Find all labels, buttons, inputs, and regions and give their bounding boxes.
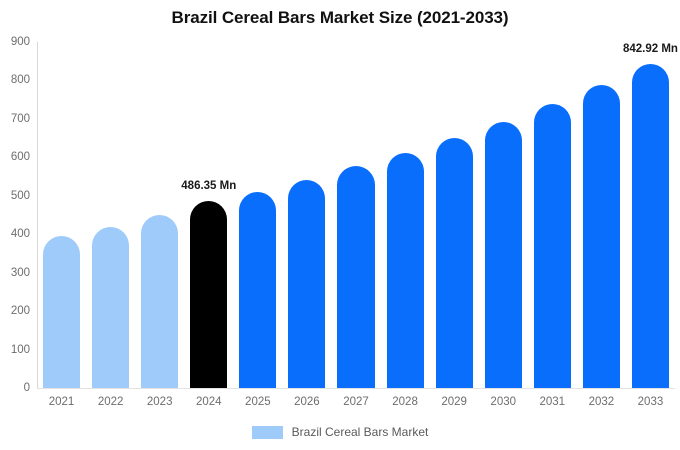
- bar-2030[interactable]: [485, 122, 522, 388]
- bar-2026[interactable]: [288, 180, 325, 388]
- x-axis-tick-2024: 2024: [196, 396, 222, 408]
- y-axis-tick: 500: [0, 190, 30, 202]
- bar-2021[interactable]: [43, 236, 80, 388]
- bar-group[interactable]: [190, 42, 227, 388]
- x-axis-tick-2021: 2021: [49, 396, 75, 408]
- y-axis-tick: 400: [0, 228, 30, 240]
- bar-2029[interactable]: [436, 138, 473, 388]
- bar-value-label-2033: 842.92 Mn: [623, 43, 678, 55]
- y-axis-tick: 100: [0, 344, 30, 356]
- y-axis-tick: 800: [0, 74, 30, 86]
- y-axis-tick: 200: [0, 305, 30, 317]
- bar-2027[interactable]: [337, 166, 374, 388]
- chart-legend: Brazil Cereal Bars Market: [0, 425, 680, 439]
- bar-2025[interactable]: [239, 192, 276, 388]
- x-axis-tick-2029: 2029: [441, 396, 467, 408]
- legend-label: Brazil Cereal Bars Market: [292, 425, 429, 439]
- x-axis-tick-2030: 2030: [490, 396, 516, 408]
- y-axis-tick: 600: [0, 151, 30, 163]
- x-axis-tick-2026: 2026: [294, 396, 320, 408]
- bar-group[interactable]: [534, 42, 571, 388]
- x-axis-tick-2033: 2033: [638, 396, 664, 408]
- x-axis-tick-2025: 2025: [245, 396, 271, 408]
- x-axis-tick-2031: 2031: [540, 396, 566, 408]
- x-axis-tick-2032: 2032: [589, 396, 615, 408]
- bar-group[interactable]: [337, 42, 374, 388]
- bar-2028[interactable]: [387, 153, 424, 388]
- y-axis-tick: 0: [0, 382, 30, 394]
- bar-group[interactable]: [141, 42, 178, 388]
- legend-swatch-icon: [252, 426, 283, 439]
- bar-group[interactable]: [239, 42, 276, 388]
- y-axis-tick: 300: [0, 267, 30, 279]
- x-axis-tick-2028: 2028: [392, 396, 418, 408]
- bar-group[interactable]: [436, 42, 473, 388]
- bar-group[interactable]: [43, 42, 80, 388]
- x-axis-tick-2022: 2022: [98, 396, 124, 408]
- chart-container: Brazil Cereal Bars Market Size (2021-203…: [0, 0, 680, 450]
- bar-2024[interactable]: [190, 201, 227, 388]
- bar-group[interactable]: [92, 42, 129, 388]
- bar-2031[interactable]: [534, 104, 571, 388]
- bar-group[interactable]: [288, 42, 325, 388]
- bar-2033[interactable]: [632, 64, 669, 388]
- bar-group[interactable]: [387, 42, 424, 388]
- bar-group[interactable]: [583, 42, 620, 388]
- bar-group[interactable]: [632, 42, 669, 388]
- bar-2032[interactable]: [583, 85, 620, 388]
- bar-value-label-2024: 486.35 Mn: [181, 180, 236, 192]
- plot-area: [37, 42, 675, 388]
- x-axis-tick-2023: 2023: [147, 396, 173, 408]
- x-axis-tick-2027: 2027: [343, 396, 369, 408]
- bar-2023[interactable]: [141, 215, 178, 388]
- y-axis-tick: 700: [0, 113, 30, 125]
- bar-2022[interactable]: [92, 227, 129, 388]
- y-axis-tick: 900: [0, 36, 30, 48]
- bar-group[interactable]: [485, 42, 522, 388]
